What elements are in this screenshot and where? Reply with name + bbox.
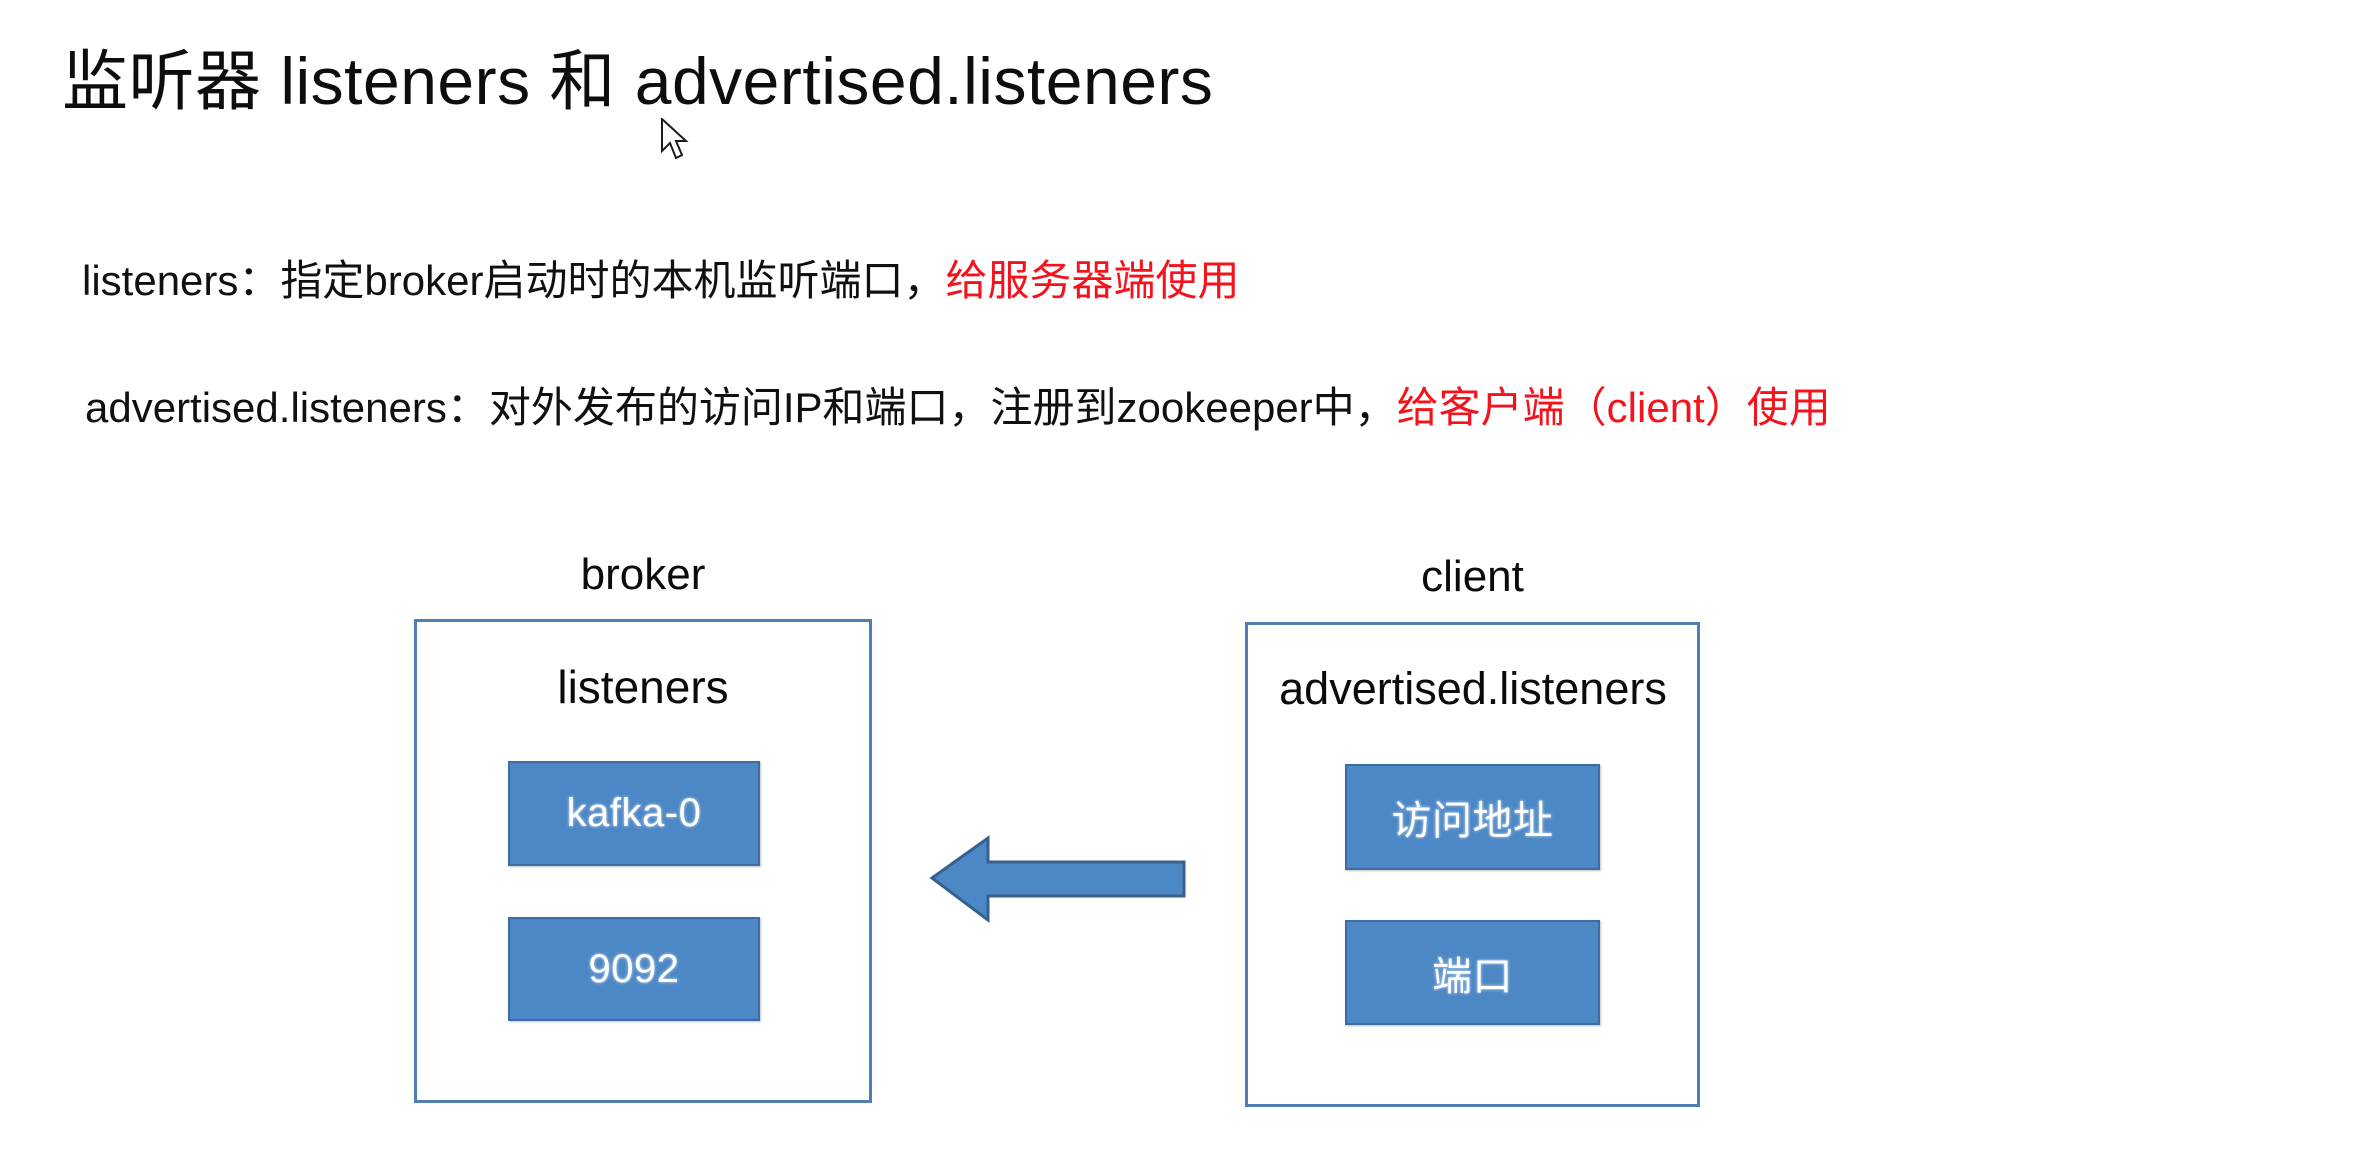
broker-chip-hostname: kafka-0 <box>508 761 760 866</box>
broker-box-heading: listeners <box>414 660 872 714</box>
arrow-left-icon <box>928 826 1188 926</box>
listeners-diagram: broker listeners kafka-0 9092 client adv… <box>0 0 2373 1155</box>
broker-chip-port: 9092 <box>508 917 760 1021</box>
client-box-heading: advertised.listeners <box>1242 663 1704 715</box>
client-group-label: client <box>1245 552 1700 602</box>
broker-group-label: broker <box>414 550 872 600</box>
client-chip-port: 端口 <box>1345 920 1600 1025</box>
mouse-pointer-icon <box>660 118 690 162</box>
client-chip-address: 访问地址 <box>1345 764 1600 870</box>
